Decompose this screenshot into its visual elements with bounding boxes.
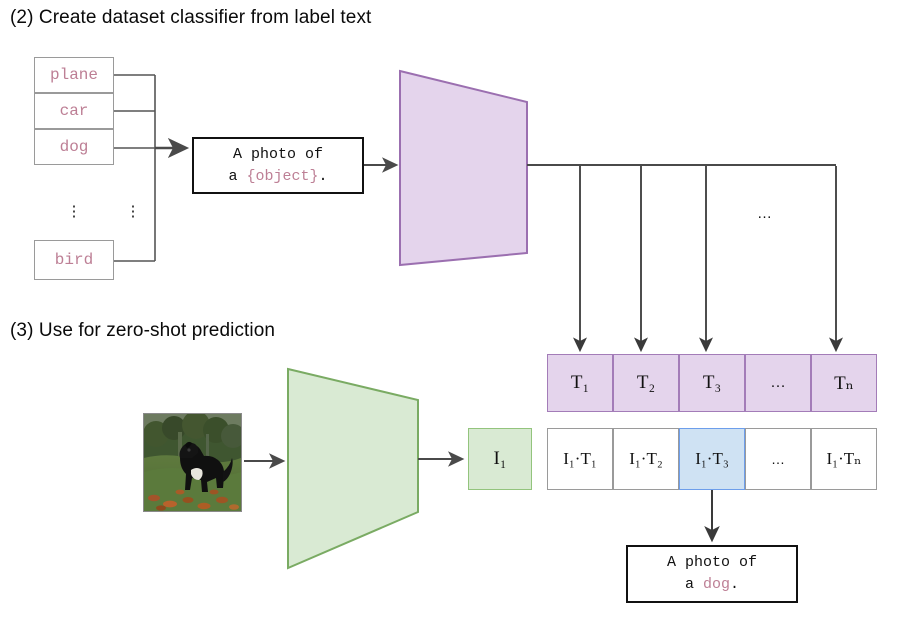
text-embedding-cell-T2[interactable]: T₂	[613, 354, 679, 412]
heading-step-2: (2) Create dataset classifier from label…	[10, 7, 371, 29]
image-encoder-label: Image Encoder	[305, 440, 405, 480]
prediction-line2-suffix: .	[730, 576, 739, 593]
prediction-box[interactable]: A photo of a dog.	[626, 545, 798, 603]
label-bracket-lines	[114, 75, 155, 261]
text-encoder-line-2: Encoder	[422, 165, 518, 185]
similarity-cell-I1TN[interactable]: I₁·Tₙ	[811, 428, 877, 490]
prediction-class: dog	[703, 576, 730, 593]
prediction-line2-prefix: a	[685, 576, 703, 593]
prompt-template-box[interactable]: A photo of a {object}.	[192, 137, 364, 194]
similarity-cell-I1T2[interactable]: I₁·T₂	[613, 428, 679, 490]
label-box-bird[interactable]: bird	[34, 240, 114, 280]
text-encoder-label: Text Encoder	[422, 145, 518, 185]
text-embedding-cell-T1[interactable]: T₁	[547, 354, 613, 412]
similarity-cell-I1T3-selected[interactable]: I₁·T₃	[679, 428, 745, 490]
image-embedding-I1[interactable]: I₁	[468, 428, 532, 490]
prompt-line2-prefix: a	[228, 168, 246, 185]
connector-column-ellipsis: ⋮	[125, 198, 141, 224]
prediction-line-1: A photo of	[667, 552, 757, 574]
text-embedding-arrows	[580, 166, 836, 350]
text-embedding-cell-TN[interactable]: Tₙ	[811, 354, 877, 412]
photo-illustration	[144, 414, 241, 511]
text-embedding-cell-T3[interactable]: T₃	[679, 354, 745, 412]
input-photo[interactable]	[143, 413, 242, 512]
label-box-plane[interactable]: plane	[34, 57, 114, 93]
similarity-cell-ellipsis: …	[745, 428, 811, 490]
prompt-object-slot: {object}	[246, 168, 318, 185]
prompt-line2-suffix: .	[319, 168, 328, 185]
similarity-cell-I1T1[interactable]: I₁·T₁	[547, 428, 613, 490]
prompt-line-2: a {object}.	[228, 166, 327, 188]
clip-zeroshot-diagram: (2) Create dataset classifier from label…	[0, 0, 906, 624]
connector-overlay	[0, 0, 906, 624]
image-encoder-line-1: Image	[305, 440, 405, 460]
prompt-line-1: A photo of	[233, 144, 323, 166]
heading-step-3: (3) Use for zero-shot prediction	[10, 320, 275, 342]
image-encoder-line-2: Encoder	[305, 460, 405, 480]
label-box-dog[interactable]: dog	[34, 129, 114, 165]
text-encoder-line-1: Text	[422, 145, 518, 165]
label-column-ellipsis: ⋮	[66, 198, 82, 224]
bus-ellipsis: …	[757, 205, 772, 222]
label-box-car[interactable]: car	[34, 93, 114, 129]
text-embedding-cell-ellipsis: …	[745, 354, 811, 412]
prediction-line-2: a dog.	[685, 574, 739, 596]
